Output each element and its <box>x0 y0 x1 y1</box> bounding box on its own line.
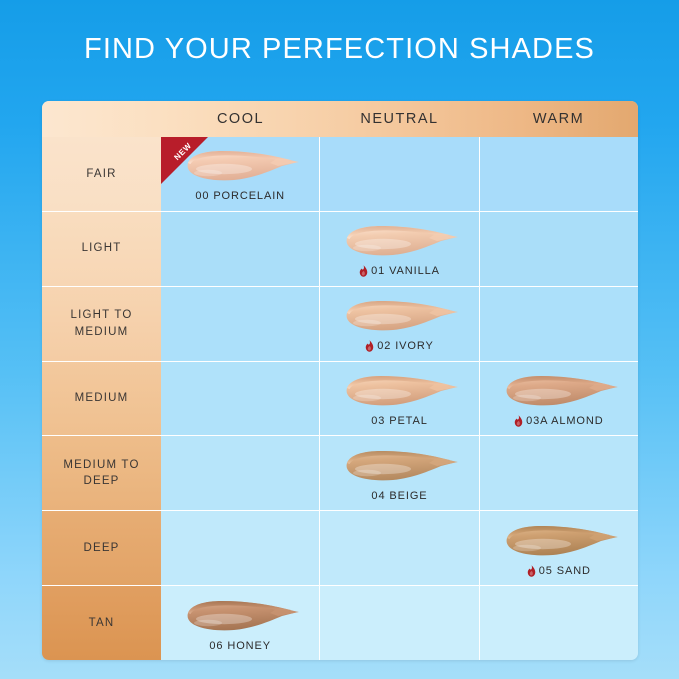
shade-label: 05 SAND <box>527 565 591 577</box>
row-cells: 01 VANILLA <box>161 212 638 286</box>
foundation-swatch-icon <box>337 295 461 337</box>
column-header-warm: WARM <box>479 101 638 137</box>
table-header-corner <box>42 101 161 137</box>
empty-cell-neutral <box>319 511 478 585</box>
empty-cell-cool <box>161 511 319 585</box>
shade-cell-06-honey[interactable]: 06 HONEY <box>161 586 319 660</box>
row-cells: 05 SAND <box>161 511 638 585</box>
foundation-swatch-icon <box>337 220 461 262</box>
table-row: MEDIUM03 PETAL03A ALMOND <box>42 361 638 436</box>
table-row: TAN06 HONEY <box>42 585 638 660</box>
row-label-light-to-medium: LIGHT TO MEDIUM <box>42 287 161 361</box>
column-header-neutral: NEUTRAL <box>320 101 479 137</box>
flame-icon <box>365 340 374 352</box>
foundation-swatch-icon <box>497 520 621 562</box>
table-row: DEEP05 SAND <box>42 510 638 585</box>
empty-cell-neutral <box>319 586 478 660</box>
row-label-fair: FAIR <box>42 137 161 211</box>
foundation-swatch-icon <box>337 445 461 487</box>
empty-cell-warm <box>479 287 638 361</box>
empty-cell-warm <box>479 436 638 510</box>
shade-name: 03 PETAL <box>371 415 428 427</box>
empty-cell-warm <box>479 137 638 211</box>
table-row: LIGHT01 VANILLA <box>42 211 638 286</box>
shade-cell-05-sand[interactable]: 05 SAND <box>479 511 638 585</box>
shade-cell-03-petal[interactable]: 03 PETAL <box>319 362 478 436</box>
shade-matching-table: COOL NEUTRAL WARM FAIRNEW00 PORCELAINLIG… <box>42 101 638 660</box>
table-row: MEDIUM TO DEEP04 BEIGE <box>42 435 638 510</box>
shade-cell-02-ivory[interactable]: 02 IVORY <box>319 287 478 361</box>
shade-name: 06 HONEY <box>209 640 271 652</box>
flame-icon <box>527 565 536 577</box>
empty-cell-warm <box>479 586 638 660</box>
shade-label: 02 IVORY <box>365 340 434 352</box>
flame-icon <box>359 265 368 277</box>
foundation-swatch-icon <box>178 595 302 637</box>
shade-label: 06 HONEY <box>209 640 271 652</box>
empty-cell-neutral <box>319 137 478 211</box>
row-cells: 06 HONEY <box>161 586 638 660</box>
table-row: LIGHT TO MEDIUM02 IVORY <box>42 286 638 361</box>
foundation-swatch-icon <box>497 370 621 412</box>
row-label-light: LIGHT <box>42 212 161 286</box>
shade-label: 04 BEIGE <box>371 490 427 502</box>
empty-cell-cool <box>161 212 319 286</box>
shade-label: 03 PETAL <box>371 415 428 427</box>
shade-name: 00 PORCELAIN <box>195 190 285 202</box>
row-cells: 04 BEIGE <box>161 436 638 510</box>
shade-cell-01-vanilla[interactable]: 01 VANILLA <box>319 212 478 286</box>
empty-cell-cool <box>161 287 319 361</box>
foundation-swatch-icon <box>337 370 461 412</box>
row-cells: NEW00 PORCELAIN <box>161 137 638 211</box>
shade-label: 01 VANILLA <box>359 265 440 277</box>
shade-name: 02 IVORY <box>377 340 434 352</box>
row-label-deep: DEEP <box>42 511 161 585</box>
shade-name: 03A ALMOND <box>526 415 603 427</box>
shade-name: 05 SAND <box>539 565 591 577</box>
row-cells: 03 PETAL03A ALMOND <box>161 362 638 436</box>
column-header-cool: COOL <box>161 101 320 137</box>
row-label-medium: MEDIUM <box>42 362 161 436</box>
empty-cell-cool <box>161 436 319 510</box>
shade-name: 04 BEIGE <box>371 490 427 502</box>
shade-cell-00-porcelain[interactable]: NEW00 PORCELAIN <box>161 137 319 211</box>
row-cells: 02 IVORY <box>161 287 638 361</box>
table-row: FAIRNEW00 PORCELAIN <box>42 137 638 211</box>
row-label-medium-to-deep: MEDIUM TO DEEP <box>42 436 161 510</box>
shade-label: 03A ALMOND <box>514 415 603 427</box>
shade-name: 01 VANILLA <box>371 265 440 277</box>
table-header-row: COOL NEUTRAL WARM <box>42 101 638 137</box>
page-title: FIND YOUR PERFECTION SHADES <box>0 33 679 66</box>
shade-label: 00 PORCELAIN <box>195 190 285 202</box>
table-body: FAIRNEW00 PORCELAINLIGHT01 VANILLALIGHT … <box>42 137 638 660</box>
shade-cell-03a-almond[interactable]: 03A ALMOND <box>479 362 638 436</box>
shade-cell-04-beige[interactable]: 04 BEIGE <box>319 436 478 510</box>
empty-cell-warm <box>479 212 638 286</box>
row-label-tan: TAN <box>42 586 161 660</box>
foundation-swatch-icon <box>178 145 302 187</box>
empty-cell-cool <box>161 362 319 436</box>
flame-icon <box>514 415 523 427</box>
